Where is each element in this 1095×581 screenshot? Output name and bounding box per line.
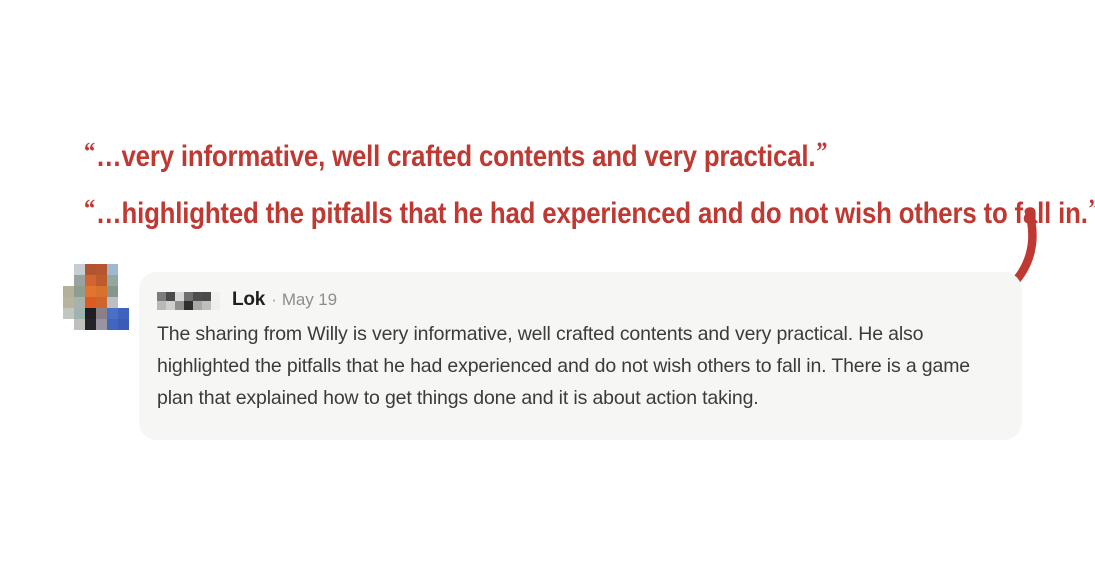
avatar-pixel [85, 264, 96, 275]
pull-quote-block: “…very informative, well crafted content… [84, 126, 1044, 240]
redaction-pixel [211, 301, 220, 310]
avatar-pixel [107, 297, 118, 308]
avatar-pixel [85, 275, 96, 286]
comment-body: The sharing from Willy is very informati… [157, 318, 1000, 414]
avatar-pixel [96, 297, 107, 308]
redaction-pixel [202, 292, 211, 301]
redaction-pixel [202, 301, 211, 310]
meta-separator: · [271, 290, 277, 310]
comment-header: Lok · May 19 [157, 288, 1000, 312]
redaction-pixel [157, 301, 166, 310]
avatar-pixel [63, 297, 74, 308]
author-name: Lok [232, 289, 265, 311]
avatar-pixel [85, 286, 96, 297]
avatar-pixel [96, 308, 107, 319]
avatar-pixel [63, 286, 74, 297]
post-date: May 19 [282, 290, 337, 310]
avatar-pixel [74, 286, 85, 297]
open-quote-glyph: “ [84, 137, 95, 166]
pull-quote-line-2-text: …highlighted the pitfalls that he had ex… [96, 197, 1088, 230]
avatar-pixel [118, 319, 129, 330]
open-quote-glyph: “ [84, 194, 95, 223]
pull-quote-line-1: “…very informative, well crafted content… [84, 126, 910, 183]
avatar-pixel [74, 297, 85, 308]
pull-quote-line-1-text: …very informative, well crafted contents… [96, 140, 816, 173]
redaction-pixel [175, 301, 184, 310]
redaction-pixel [193, 301, 202, 310]
avatar-pixel [96, 275, 107, 286]
avatar-pixel [96, 264, 107, 275]
avatar-pixel [85, 319, 96, 330]
avatar-pixel [74, 308, 85, 319]
close-quote-glyph: ” [816, 137, 827, 166]
avatar-pixel [107, 319, 118, 330]
pull-quote-line-2: “…highlighted the pitfalls that he had e… [84, 183, 910, 240]
redaction-pixel [166, 301, 175, 310]
redaction-pixel [175, 292, 184, 301]
avatar-pixel [85, 297, 96, 308]
avatar-pixel [85, 308, 96, 319]
avatar-pixel [107, 286, 118, 297]
avatar-pixel [118, 308, 129, 319]
redaction-pixel [211, 292, 220, 301]
close-quote-glyph: ” [1089, 194, 1095, 223]
redaction-pixel [184, 292, 193, 301]
avatar-pixel [107, 308, 118, 319]
avatar-pixel [107, 264, 118, 275]
avatar-pixel [107, 275, 118, 286]
avatar-pixel [74, 264, 85, 275]
redacted-author-name [157, 290, 220, 310]
avatar-pixel [74, 275, 85, 286]
avatar [63, 264, 125, 326]
avatar-pixel [96, 319, 107, 330]
avatar-pixel [63, 308, 74, 319]
avatar-pixel [96, 286, 107, 297]
avatar-pixel [74, 319, 85, 330]
redaction-pixel [184, 301, 193, 310]
comment-card: Lok · May 19 The sharing from Willy is v… [139, 272, 1022, 440]
redaction-pixel [166, 292, 175, 301]
redaction-pixel [193, 292, 202, 301]
redaction-pixel [157, 292, 166, 301]
